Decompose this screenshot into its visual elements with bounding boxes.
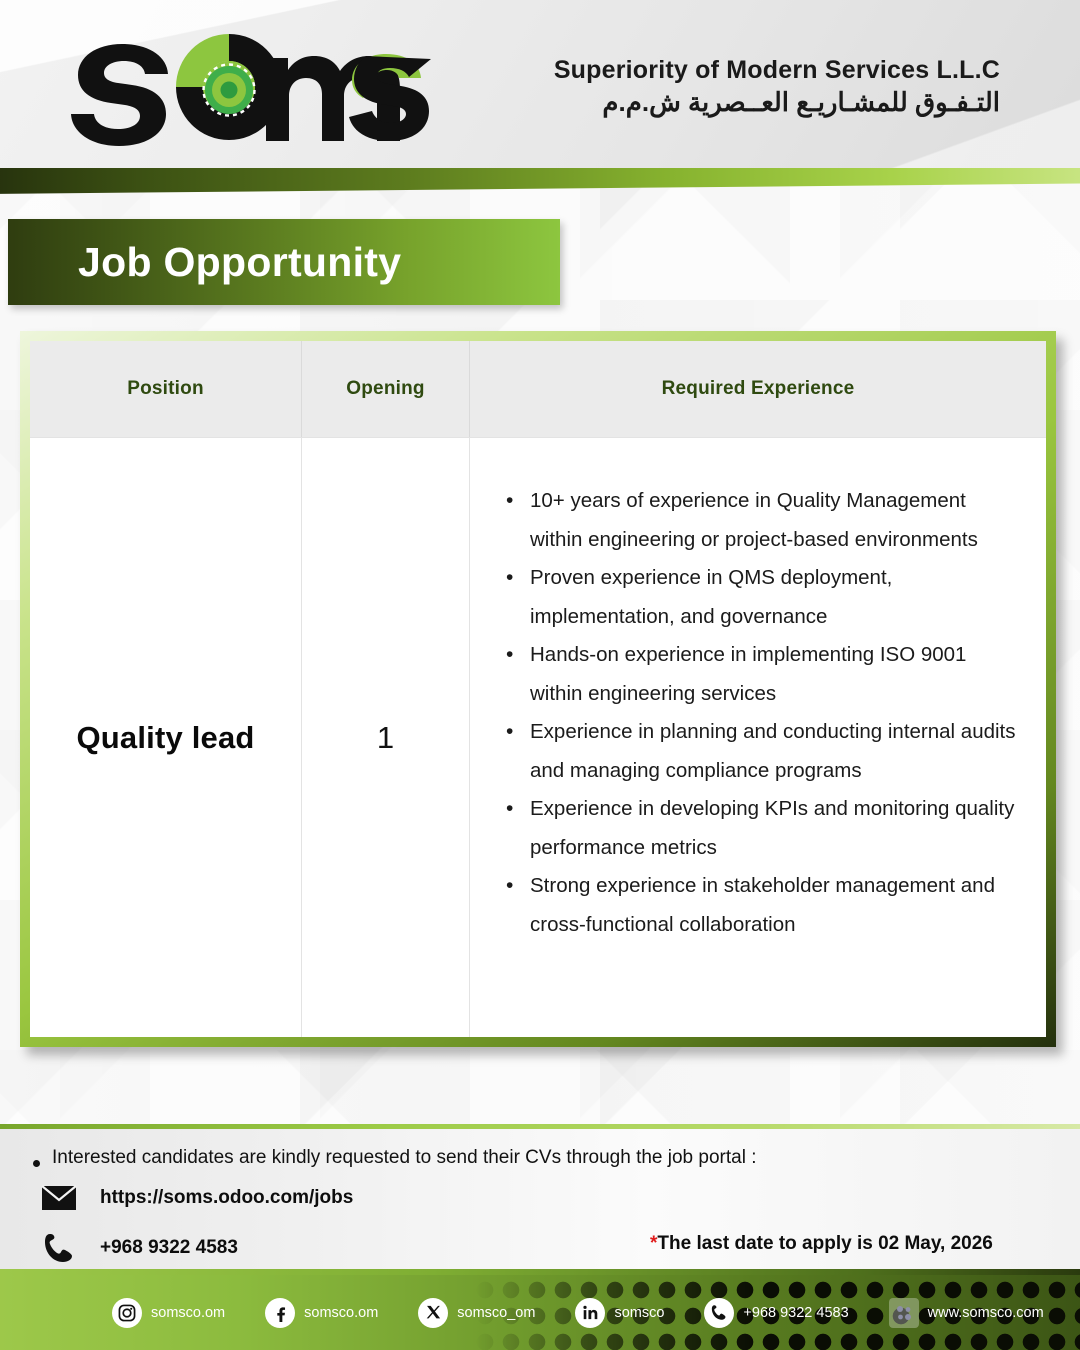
phone-icon: [704, 1298, 734, 1328]
list-item: Strong experience in stakeholder managem…: [504, 867, 1018, 944]
phone-icon: [40, 1233, 78, 1263]
social-footer: somsco.om somsco.om somsco_om somsco +96: [0, 1275, 1080, 1350]
instagram-icon: [112, 1298, 142, 1328]
cell-opening: 1: [302, 438, 470, 1037]
list-item: Experience in developing KPIs and monito…: [504, 790, 1018, 867]
list-item: 10+ years of experience in Quality Manag…: [504, 482, 1018, 559]
column-header-opening: Opening: [302, 341, 470, 437]
company-logo: [66, 28, 436, 146]
phone-row[interactable]: +968 9322 4583: [40, 1233, 238, 1263]
jobs-table: Position Opening Required Experience Qua…: [30, 341, 1046, 1037]
experience-list: 10+ years of experience in Quality Manag…: [470, 438, 1046, 944]
social-links: somsco.om somsco.om somsco_om somsco +96: [0, 1275, 1080, 1350]
envelope-icon: [40, 1183, 78, 1213]
social-website[interactable]: www.somsco.com: [889, 1298, 1044, 1328]
header-green-strip: [0, 168, 1080, 194]
list-item: Hands-on experience in implementing ISO …: [504, 636, 1018, 713]
portal-link-row[interactable]: https://soms.odoo.com/jobs: [40, 1183, 353, 1213]
deadline-text: The last date to apply is 02 May, 2026: [657, 1233, 992, 1254]
social-phone[interactable]: +968 9322 4583: [704, 1298, 848, 1328]
list-item: Experience in planning and conducting in…: [504, 713, 1018, 790]
social-instagram[interactable]: somsco.om: [112, 1298, 225, 1328]
list-item: Proven experience in QMS deployment, imp…: [504, 559, 1018, 636]
social-handle: somsco_om: [457, 1305, 535, 1321]
application-deadline: *The last date to apply is 02 May, 2026: [650, 1233, 993, 1255]
bullet-icon: [33, 1160, 40, 1167]
portal-url[interactable]: https://soms.odoo.com/jobs: [100, 1187, 353, 1209]
social-x-twitter[interactable]: somsco_om: [418, 1298, 535, 1328]
company-name-en: Superiority of Modern Services L.L.C: [554, 56, 1000, 85]
cell-position: Quality lead: [30, 438, 302, 1037]
opening-count: 1: [377, 720, 394, 756]
job-opportunity-banner: Job Opportunity: [8, 219, 560, 305]
website-icon: [889, 1298, 919, 1328]
social-linkedin[interactable]: somsco: [575, 1298, 664, 1328]
linkedin-icon: [575, 1298, 605, 1328]
social-handle: somsco.om: [304, 1305, 378, 1321]
social-facebook[interactable]: somsco.om: [265, 1298, 378, 1328]
company-name-ar: التـفـوق للمشـاريـع العــصرية ش.م.م: [554, 86, 1000, 119]
table-row: Quality lead 1 10+ years of experience i…: [30, 437, 1046, 1037]
cell-required-experience: 10+ years of experience in Quality Manag…: [470, 438, 1046, 1037]
x-twitter-icon: [418, 1298, 448, 1328]
social-handle: +968 9322 4583: [743, 1305, 848, 1321]
company-name-block: Superiority of Modern Services L.L.C الت…: [554, 56, 1000, 118]
column-header-position: Position: [30, 341, 302, 437]
contact-section: Interested candidates are kindly request…: [0, 1129, 1080, 1269]
page-title: Job Opportunity: [8, 242, 401, 283]
page-header: Superiority of Modern Services L.L.C الت…: [0, 0, 1080, 168]
social-handle: www.somsco.com: [928, 1305, 1044, 1321]
facebook-icon: [265, 1298, 295, 1328]
jobs-table-frame: Position Opening Required Experience Qua…: [20, 331, 1056, 1047]
position-name: Quality lead: [76, 720, 254, 756]
social-handle: somsco: [614, 1305, 664, 1321]
phone-number[interactable]: +968 9322 4583: [100, 1237, 238, 1259]
social-handle: somsco.om: [151, 1305, 225, 1321]
gear-icon: [204, 65, 255, 116]
column-header-required-experience: Required Experience: [470, 341, 1046, 437]
application-instructions: Interested candidates are kindly request…: [52, 1147, 756, 1169]
table-header-row: Position Opening Required Experience: [30, 341, 1046, 437]
